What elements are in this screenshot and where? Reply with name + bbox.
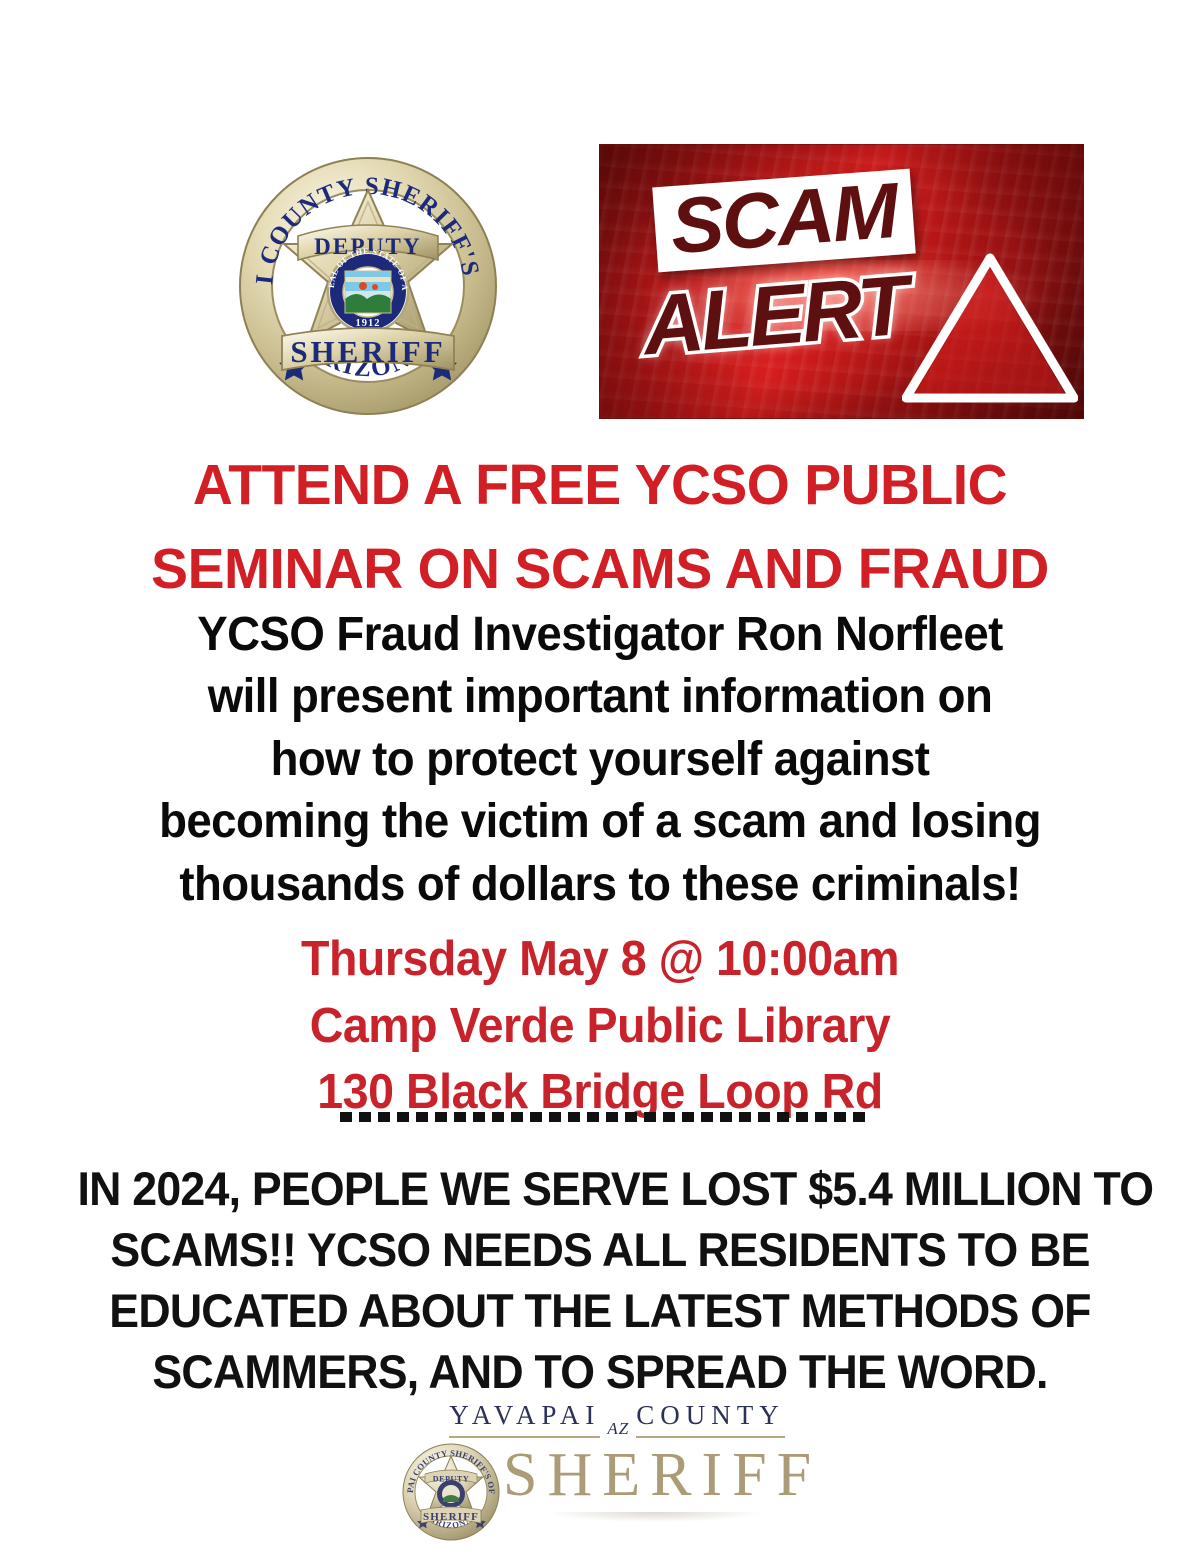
alert-word-box: ALERT	[640, 268, 909, 364]
footer-logo-shadow	[505, 1512, 805, 1526]
headline: ATTEND A FREE YCSO PUBLIC SEMINAR ON SCA…	[76, 444, 1124, 612]
statistics-statement: IN 2024, PEOPLE WE SERVE LOST $5.4 MILLI…	[78, 1158, 1123, 1402]
svg-text:SHERIFF: SHERIFF	[423, 1511, 479, 1523]
footer-logo-top-words: YAVAPAI AZ COUNTY	[421, 1396, 813, 1442]
statement-line-3: EDUCATED ABOUT THE LATEST METHODS OF	[78, 1280, 1123, 1341]
svg-text:SHERIFF: SHERIFF	[290, 334, 445, 369]
footer-logo: YAVAPAI COUNTY SHERIFF'S OFFICE ARIZONA …	[393, 1396, 813, 1546]
scam-alert-graphic: SCAM ALERT	[599, 144, 1084, 419]
flyer-page: YAVAPAI COUNTY SHERIFF'S OFFICE ARIZONA	[0, 0, 1200, 1553]
body-line-2: will present important information on	[87, 666, 1113, 728]
headline-line-2: SEMINAR ON SCAMS AND FRAUD	[76, 528, 1124, 612]
sheriff-badge-icon: YAVAPAI COUNTY SHERIFF'S OFFICE ARIZONA	[232, 140, 504, 425]
event-datetime: Thursday May 8 @ 10:00am	[87, 926, 1113, 993]
alert-word-text: ALERT	[640, 268, 909, 364]
warning-triangle-icon	[902, 252, 1078, 404]
footer-word-az: AZ	[600, 1419, 636, 1439]
body-line-1: YCSO Fraud Investigator Ron Norfleet	[87, 604, 1113, 666]
event-venue: Camp Verde Public Library	[87, 993, 1113, 1060]
body-line-5: thousands of dollars to these criminals!	[87, 854, 1113, 916]
headline-line-1: ATTEND A FREE YCSO PUBLIC	[76, 444, 1124, 528]
statement-line-1: IN 2024, PEOPLE WE SERVE LOST $5.4 MILLI…	[78, 1158, 1123, 1219]
scam-word-text: SCAM	[668, 174, 899, 264]
statement-line-4: SCAMMERS, AND TO SPREAD THE WORD.	[78, 1341, 1123, 1402]
statement-line-2: SCAMS!! YCSO NEEDS ALL RESIDENTS TO BE	[78, 1219, 1123, 1280]
footer-badge-icon: YAVAPAI COUNTY SHERIFF'S OFFICE ARIZONA …	[401, 1440, 501, 1544]
header-graphics-row: YAVAPAI COUNTY SHERIFF'S OFFICE ARIZONA	[0, 0, 1200, 432]
body-paragraph: YCSO Fraud Investigator Ron Norfleet wil…	[87, 604, 1113, 916]
event-details: Thursday May 8 @ 10:00am Camp Verde Publ…	[87, 926, 1113, 1126]
dashed-divider	[340, 1112, 870, 1122]
footer-word-yavapai: YAVAPAI	[449, 1400, 600, 1438]
body-line-3: how to protect yourself against	[87, 729, 1113, 791]
footer-word-sheriff: SHERIFF	[503, 1444, 815, 1506]
footer-word-county: COUNTY	[636, 1400, 785, 1438]
body-line-4: becoming the victim of a scam and losing	[87, 791, 1113, 853]
